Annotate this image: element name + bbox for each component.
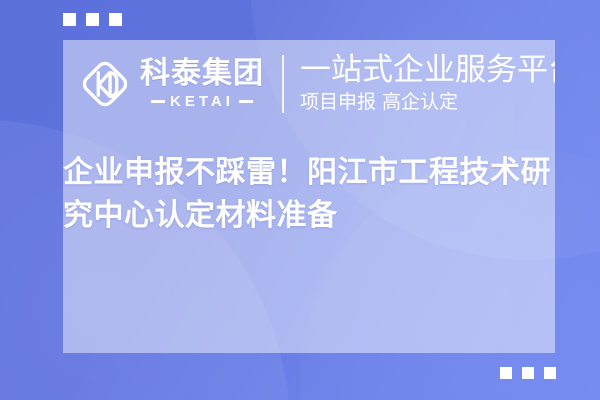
- decor-square: [63, 13, 76, 26]
- poster-canvas: 科泰集团 KETAI 一站式企业服务平台 项目申报 高企认定 企业申报不踩雷！阳…: [0, 0, 600, 400]
- slogan-sub: 项目申报 高企认定: [300, 90, 555, 115]
- decor-dots-top-left: [63, 13, 122, 26]
- wordmark-rule-left: [151, 100, 165, 103]
- brand-name-en-row: KETAI: [151, 93, 253, 110]
- decor-dots-bottom-right: [500, 367, 556, 379]
- ketai-diamond-kd-logo-icon: [77, 56, 133, 112]
- wordmark-rule-right: [239, 100, 253, 103]
- slogan-block: 一站式企业服务平台 项目申报 高企认定: [300, 53, 555, 115]
- brand-name-cn: 科泰集团: [140, 58, 264, 90]
- slogan-main: 一站式企业服务平台: [300, 53, 555, 88]
- decor-square: [500, 367, 512, 379]
- decor-square: [109, 13, 122, 26]
- decor-square: [522, 367, 534, 379]
- brand-header: 科泰集团 KETAI 一站式企业服务平台 项目申报 高企认定: [63, 40, 555, 128]
- decor-square: [86, 13, 99, 26]
- decor-square: [544, 367, 556, 379]
- brand-name-en: KETAI: [170, 93, 234, 110]
- page-title: 企业申报不踩雷！阳江市工程技术研究中心认定材料准备: [63, 152, 563, 237]
- brand-wordmark: 科泰集团 KETAI: [140, 58, 264, 110]
- vertical-divider: [282, 55, 284, 113]
